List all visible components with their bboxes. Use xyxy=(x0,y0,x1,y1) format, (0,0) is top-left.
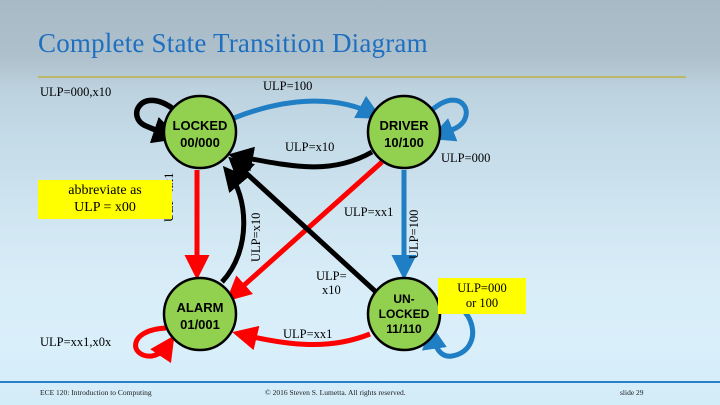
edge-label-alarm-locked: ULP=x10 xyxy=(250,213,263,262)
footer-course: ECE 120: Introduction to Computing xyxy=(40,388,152,397)
state-code-locked: 00/000 xyxy=(180,135,220,150)
annotation-unlocked-self-line1: ULP=000 xyxy=(444,281,520,296)
edge-label-unlocked-locked-line1: ULP= xyxy=(316,270,347,284)
edge-alarm-self xyxy=(136,328,170,356)
state-node-unlocked[interactable]: UN- LOCKED 11/110 xyxy=(368,278,440,350)
edge-label-locked-driver: ULP=100 xyxy=(263,80,312,93)
edge-label-driver-unlocked: ULP=100 xyxy=(408,210,421,259)
edge-label-driver-alarm: ULP=xx1 xyxy=(344,206,393,219)
state-node-alarm[interactable]: ALARM 01/001 xyxy=(164,278,236,350)
state-name-driver: DRIVER xyxy=(379,118,429,133)
footer-copyright: © 2016 Steven S. Lumetta. All rights res… xyxy=(265,388,406,397)
state-code-unlocked: 11/110 xyxy=(386,322,422,336)
edge-label-unlocked-alarm: ULP=xx1 xyxy=(283,328,332,341)
edge-label-locked-self: ULP=000,x10 xyxy=(40,86,111,99)
state-node-driver[interactable]: DRIVER 10/100 xyxy=(368,96,440,168)
footer-divider xyxy=(0,381,720,383)
edge-label-unlocked-locked: ULP= x10 xyxy=(316,270,347,298)
edge-label-unlocked-locked-line2: x10 xyxy=(316,284,347,298)
state-name-locked: LOCKED xyxy=(173,118,228,133)
state-node-locked[interactable]: LOCKED 00/000 xyxy=(164,96,236,168)
annotation-abbreviation-line1: abbreviate as xyxy=(44,183,166,200)
annotation-abbreviation: abbreviate as ULP = x00 xyxy=(38,180,172,219)
edge-driver-locked xyxy=(236,152,372,167)
state-name-unlocked-line2: LOCKED xyxy=(379,307,430,321)
annotation-unlocked-self-line2: or 100 xyxy=(444,296,520,311)
edge-alarm-locked xyxy=(222,172,244,282)
state-name-alarm: ALARM xyxy=(177,300,224,315)
edge-label-driver-locked: ULP=x10 xyxy=(285,141,334,154)
footer-slide-number: slide 29 xyxy=(620,388,644,397)
annotation-unlocked-self: ULP=000 or 100 xyxy=(438,278,526,314)
annotation-abbreviation-line2: ULP = x00 xyxy=(44,200,166,217)
state-code-alarm: 01/001 xyxy=(180,317,220,332)
edge-label-driver-self: ULP=000 xyxy=(441,152,490,165)
edge-label-alarm-self: ULP=xx1,x0x xyxy=(40,336,111,349)
slide-canvas: Complete State Transition Diagram xyxy=(0,0,720,405)
edge-locked-driver xyxy=(234,101,375,118)
state-name-unlocked-line1: UN- xyxy=(393,292,414,306)
state-code-driver: 10/100 xyxy=(384,135,424,150)
